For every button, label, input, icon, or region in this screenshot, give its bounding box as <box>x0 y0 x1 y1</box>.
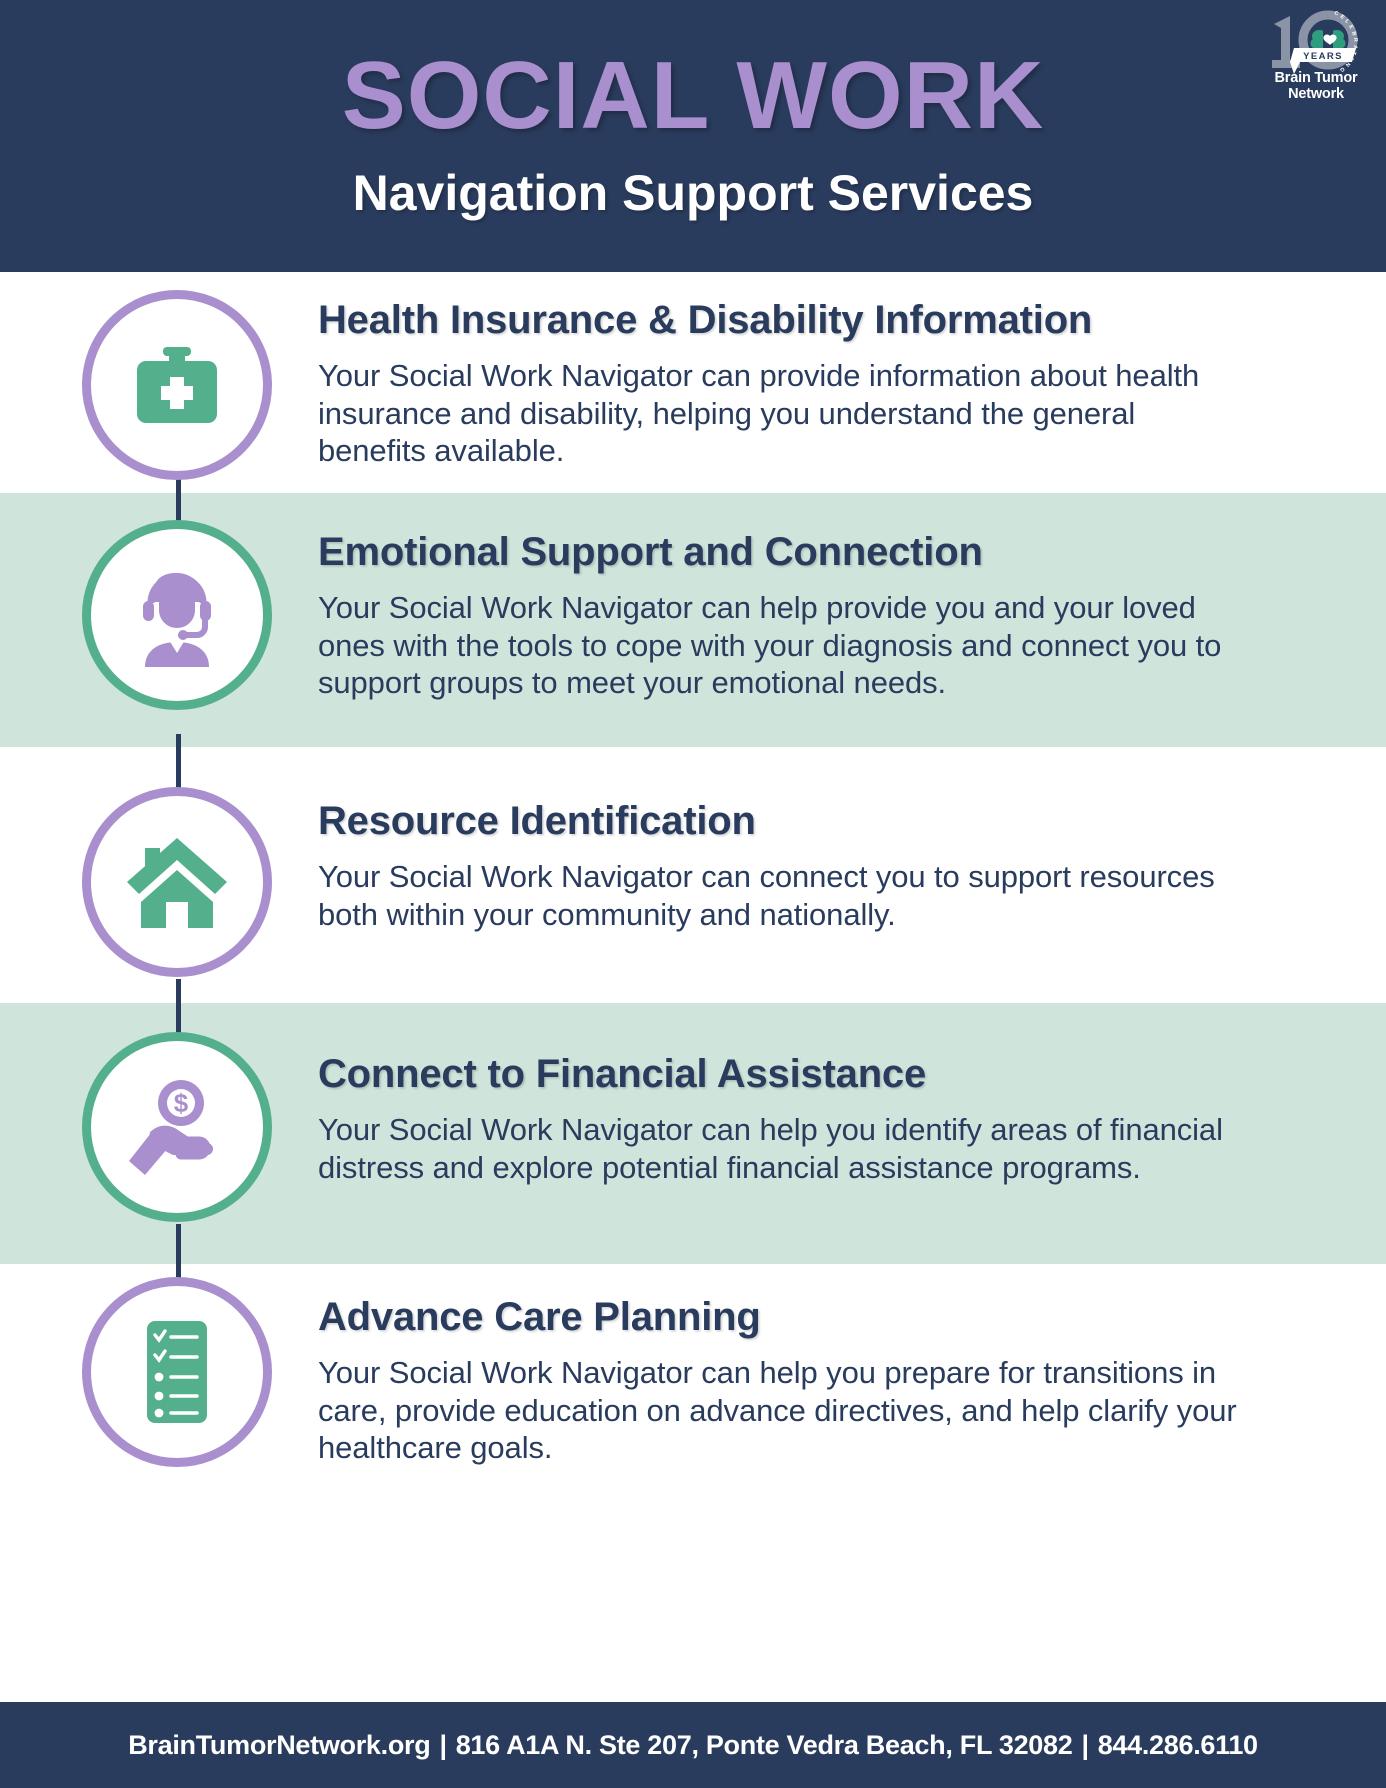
section-icon-circle-financial-assistance: $ <box>82 1032 272 1222</box>
footer-separator-1: | <box>430 1730 455 1760</box>
footer-address: 816 A1A N. Ste 207, Ponte Vedra Beach, F… <box>456 1730 1073 1760</box>
footer-phone[interactable]: 844.286.6110 <box>1098 1730 1258 1760</box>
footer-website[interactable]: BrainTumorNetwork.org <box>128 1730 430 1760</box>
section-emotional-support: Emotional Support and Connection Your So… <box>0 520 1386 750</box>
section-icon-circle-health-insurance <box>82 290 272 480</box>
section-icon-circle-emotional-support <box>82 520 272 710</box>
page-footer: BrainTumorNetwork.org|816 A1A N. Ste 207… <box>0 1702 1386 1788</box>
svg-text:R: R <box>1352 38 1358 43</box>
svg-text:$: $ <box>174 1088 189 1118</box>
section-body: Your Social Work Navigator can help you … <box>318 1111 1238 1187</box>
section-body: Your Social Work Navigator can provide i… <box>318 357 1238 470</box>
section-body: Your Social Work Navigator can connect y… <box>318 858 1238 934</box>
logo-org-line1: Brain Tumor <box>1275 70 1358 86</box>
logo-org-line2: Network <box>1288 86 1344 102</box>
page-header: SOCIAL WORK Navigation Support Services … <box>0 0 1386 272</box>
house-icon <box>123 830 231 934</box>
section-title: Advance Care Planning <box>318 1295 1238 1340</box>
section-title: Emotional Support and Connection <box>318 530 1238 575</box>
hand-holding-dollar-icon: $ <box>121 1075 233 1179</box>
medical-bag-icon <box>125 333 229 437</box>
page-title: SOCIAL WORK <box>0 48 1386 144</box>
section-text-emotional-support: Emotional Support and Connection Your So… <box>318 530 1238 702</box>
checklist-clipboard-icon <box>131 1317 223 1427</box>
section-icon-circle-advance-care-planning <box>82 1277 272 1467</box>
section-title: Health Insurance & Disability Informatio… <box>318 298 1238 343</box>
footer-contact-line: BrainTumorNetwork.org|816 A1A N. Ste 207… <box>128 1730 1258 1761</box>
section-advance-care-planning: Advance Care Planning Your Social Work N… <box>0 1277 1386 1482</box>
section-text-advance-care-planning: Advance Care Planning Your Social Work N… <box>318 1295 1238 1467</box>
section-body: Your Social Work Navigator can help prov… <box>318 589 1238 702</box>
infographic-page: SOCIAL WORK Navigation Support Services … <box>0 0 1386 1788</box>
section-health-insurance: Health Insurance & Disability Informatio… <box>0 290 1386 493</box>
footer-separator-2: | <box>1072 1730 1097 1760</box>
section-text-health-insurance: Health Insurance & Disability Informatio… <box>318 298 1238 470</box>
section-title: Connect to Financial Assistance <box>318 1052 1238 1097</box>
section-text-financial-assistance: Connect to Financial Assistance Your Soc… <box>318 1052 1238 1186</box>
section-title: Resource Identification <box>318 799 1238 844</box>
section-text-resource-identification: Resource Identification Your Social Work… <box>318 799 1238 933</box>
headset-support-agent-icon <box>125 563 229 667</box>
section-resource-identification: Resource Identification Your Social Work… <box>0 787 1386 993</box>
section-financial-assistance: $ Connect to Financial Assistance Your S… <box>0 1032 1386 1252</box>
sections-container: Health Insurance & Disability Informatio… <box>0 272 1386 1702</box>
svg-text:YEARS: YEARS <box>1303 51 1343 62</box>
logo-org-name: Brain Tumor Network <box>1264 70 1368 102</box>
anniversary-10-years-logo-icon: C E L E B R A T I N G YEARS <box>1264 8 1368 74</box>
section-icon-circle-resource-identification <box>82 787 272 977</box>
page-subtitle: Navigation Support Services <box>0 168 1386 218</box>
brain-tumor-network-logo: C E L E B R A T I N G YEARS Brain <box>1264 8 1368 116</box>
section-body: Your Social Work Navigator can help you … <box>318 1354 1238 1467</box>
